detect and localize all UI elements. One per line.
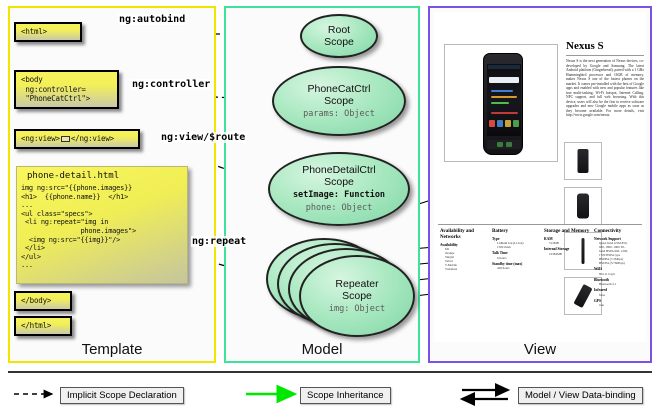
scope-phonedetailctrl: PhoneDetailCtrl Scope setImage: Function… [268, 152, 410, 226]
scope-phonedetailctrl-prop-setimage: setImage: Function [293, 190, 385, 201]
phone-home-keys [487, 140, 521, 149]
phone-app-icon-4 [513, 120, 519, 127]
view-rendered-page: Nexus S Nexus S is the next generation o… [434, 12, 646, 342]
scope-repeater-front: Repeater Scope img: Object [299, 255, 415, 337]
note-code: img ng:src="{{phone.images}} <h1> {{phon… [17, 184, 187, 270]
legend: Implicit Scope Declaration Scope Inherit… [0, 371, 660, 420]
thumb-phone-front-icon [578, 149, 589, 173]
phone-search-widget [489, 77, 519, 83]
spec-header-storage: Storage and Memory [544, 229, 592, 235]
scope-root: Root Scope [300, 14, 378, 58]
view-product-description: Nexus S is the next generation of Nexus … [566, 59, 644, 118]
scope-phonedetailctrl-title-line2: Scope [324, 176, 354, 188]
phone-key-2 [506, 142, 512, 147]
spec-value-infrared: false [594, 293, 642, 297]
spec-value-talk-time: 6 hours [492, 256, 540, 260]
code-box-body-open: <body ng:controller= "PhoneCatCtrl"> [14, 70, 119, 109]
legend-item-scope-inheritance: Scope Inheritance [300, 385, 391, 403]
spec-column-connectivity: Connectivity Network Support Quad-band G… [594, 229, 642, 307]
ngview-placeholder-icon [61, 136, 70, 142]
code-box-html-close: </html> [14, 316, 72, 336]
spec-column-battery: Battery Type Lithium Ion (Li-Ion)1500 mA… [492, 229, 540, 270]
spec-value-bluetooth: Bluetooth 2.1 [594, 282, 642, 286]
ngview-close-tag: </ng:view> [71, 134, 114, 143]
phone-screen-line-1 [491, 90, 513, 92]
view-product-title: Nexus S [566, 40, 604, 52]
legend-item-implicit-scope-declaration: Implicit Scope Declaration [60, 385, 184, 403]
spec-header-connectivity: Connectivity [594, 229, 642, 235]
phone-app-icon-1 [489, 120, 495, 127]
panel-view-label: View [430, 341, 650, 358]
phone-hero-image-frame [444, 44, 558, 162]
scope-root-title-line2: Scope [324, 36, 354, 48]
legend-label-implicit: Implicit Scope Declaration [60, 387, 184, 404]
phone-key-1 [497, 142, 503, 147]
scope-phonecatctrl-title-line2: Scope [324, 95, 354, 107]
phone-device-illustration [483, 53, 523, 155]
scope-phonedetailctrl-title-line1: PhoneDetailCtrl [302, 164, 376, 176]
scope-repeater-prop-img: img: Object [329, 304, 385, 315]
note-title: phone-detail.html [17, 167, 187, 184]
panel-model-label: Model [226, 341, 418, 358]
scope-repeater-title-line1: Repeater [335, 278, 378, 290]
panel-template-label: Template [10, 341, 214, 358]
code-box-body-close: </body> [14, 291, 72, 311]
phone-screen-line-2 [491, 96, 517, 98]
spec-header-availability: Availability and Networks [440, 229, 488, 241]
template-note-phone-detail: phone-detail.html img ng:src="{{phone.im… [16, 166, 188, 284]
spec-value-availability: M1OrangeSingtelTelcelT-MobileVodafone [440, 247, 488, 271]
phone-status-bar [488, 65, 520, 69]
phone-screen [487, 64, 521, 136]
phone-screen-line-4 [491, 112, 518, 114]
code-box-html-open: <html> [14, 22, 82, 42]
view-thumbnail-1[interactable] [564, 142, 602, 180]
legend-label-binding: Model / View Data-binding [518, 387, 643, 404]
edge-label-ngrepeat: ng:repeat [191, 236, 247, 247]
ngview-open-tag: <ng:view> [21, 134, 60, 143]
scope-repeater-stack: Repeater Scope img: Object [266, 238, 416, 343]
spec-value-wifi: 802.11 b/g/n [594, 272, 642, 276]
spec-value-ram: 512MB [544, 241, 592, 245]
phone-app-icon-2 [497, 120, 503, 127]
view-title-divider [566, 55, 644, 56]
spec-value-battery-type: Lithium Ion (Li-Ion)1500 mAh [492, 241, 540, 249]
spec-column-availability: Availability and Networks Availability M… [440, 229, 488, 271]
spec-value-standby: 428 hours [492, 266, 540, 270]
edge-label-ngview: ng:view/$route [160, 132, 246, 143]
spec-header-battery: Battery [492, 229, 540, 235]
view-thumbnail-2[interactable] [564, 187, 602, 225]
edge-label-controller: ng:controller [131, 79, 211, 90]
scope-phonecatctrl-title-line1: PhoneCatCtrl [307, 83, 370, 95]
legend-item-data-binding: Model / View Data-binding [518, 385, 643, 403]
view-spec-table: Availability and Networks Availability M… [438, 224, 642, 324]
scope-phonecatctrl: PhoneCatCtrl Scope params: Object [272, 66, 406, 136]
spec-value-internal-storage: 16384MB [544, 252, 592, 256]
spec-value-gps: true [594, 303, 642, 307]
spec-value-network-support: Quad-band GSM 850,900, 1800, 1900 Tri-ba… [594, 241, 642, 265]
legend-label-inheritance: Scope Inheritance [300, 387, 391, 404]
spec-column-storage: Storage and Memory RAM 512MB Internal St… [544, 229, 592, 256]
thumb-phone-back-icon [577, 194, 589, 219]
phone-screen-line-3 [491, 102, 509, 104]
code-box-ngview: <ng:view></ng:view> [14, 129, 140, 149]
scope-phonecatctrl-prop-params: params: Object [303, 109, 375, 120]
scope-repeater-title-line2: Scope [342, 290, 372, 302]
phone-app-icon-3 [505, 120, 511, 127]
edge-label-autobind: ng:autobind [118, 14, 186, 25]
phone-icon-row-1 [489, 120, 519, 128]
scope-root-title-line1: Root [328, 24, 350, 36]
scope-phonedetailctrl-prop-phone: phone: Object [306, 203, 373, 214]
